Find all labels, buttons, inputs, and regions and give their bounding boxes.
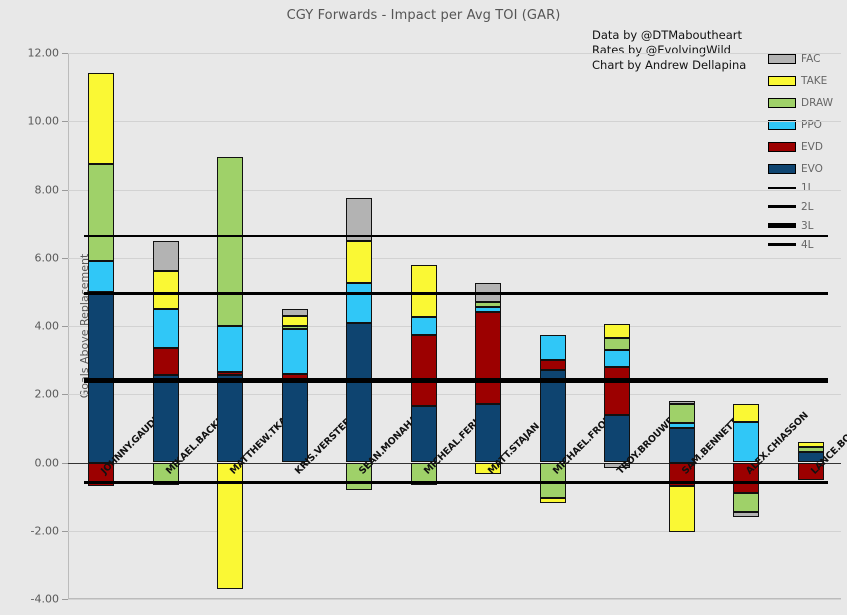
bar-segment-evo[interactable]	[346, 323, 372, 463]
gridline	[68, 326, 841, 327]
bar-segment-take[interactable]	[669, 486, 695, 532]
y-tick-label: 0.00	[35, 456, 60, 469]
bar-segment-evd[interactable]	[411, 335, 437, 407]
bar-segment-take[interactable]	[346, 241, 372, 284]
bar-segment-take[interactable]	[798, 442, 824, 447]
y-tick-label: 6.00	[35, 251, 60, 264]
bar-segment-draw[interactable]	[282, 326, 308, 329]
y-tick-mark	[62, 599, 68, 600]
bar-column[interactable]	[153, 53, 179, 599]
bar-segment-fac[interactable]	[669, 401, 695, 404]
page-title: CGY Forwards - Impact per Avg TOI (GAR)	[0, 8, 847, 23]
y-tick-mark	[62, 121, 68, 122]
plot-area: Goals Above Replacement -4.00-2.000.002.…	[68, 53, 841, 599]
bar-segment-ppo[interactable]	[411, 317, 437, 334]
bar-segment-draw[interactable]	[88, 164, 114, 261]
bar-segment-draw[interactable]	[217, 157, 243, 326]
gridline	[68, 258, 841, 259]
y-tick-mark	[62, 531, 68, 532]
bar-segment-ppo[interactable]	[604, 350, 630, 367]
bar-segment-fac[interactable]	[733, 512, 759, 517]
bar-segment-take[interactable]	[604, 324, 630, 338]
bar-segment-ppo[interactable]	[217, 326, 243, 372]
y-tick-label: 10.00	[28, 115, 60, 128]
bar-segment-fac[interactable]	[153, 241, 179, 272]
bar-segment-evd[interactable]	[604, 367, 630, 415]
bar-segment-evd[interactable]	[475, 312, 501, 404]
credit-line-data: Data by @DTMaboutheart	[592, 28, 746, 43]
bar-segment-evo[interactable]	[153, 375, 179, 462]
bar-segment-take[interactable]	[733, 404, 759, 421]
reference-line-3l	[84, 378, 828, 383]
gridline	[68, 190, 841, 191]
bar-segment-draw[interactable]	[733, 493, 759, 512]
bar-segment-evo[interactable]	[411, 406, 437, 462]
bar-column[interactable]	[733, 53, 759, 599]
bar-column[interactable]	[88, 53, 114, 599]
y-tick-label: 4.00	[35, 320, 60, 333]
bar-segment-take[interactable]	[88, 73, 114, 163]
bar-segment-ppo[interactable]	[88, 261, 114, 292]
bar-segment-evd[interactable]	[540, 360, 566, 370]
y-tick-mark	[62, 394, 68, 395]
bar-column[interactable]	[346, 53, 372, 599]
gridline	[68, 599, 841, 600]
bar-segment-evd[interactable]	[217, 372, 243, 375]
gridline	[68, 394, 841, 395]
bar-segment-draw[interactable]	[798, 447, 824, 452]
bar-segment-ppo[interactable]	[282, 329, 308, 373]
bar-segment-evo[interactable]	[604, 415, 630, 463]
y-tick-label: -4.00	[31, 593, 59, 606]
bar-segment-evo[interactable]	[217, 375, 243, 462]
y-tick-label: 8.00	[35, 183, 60, 196]
bar-column[interactable]	[798, 53, 824, 599]
gridline	[68, 531, 841, 532]
bar-segment-ppo[interactable]	[346, 283, 372, 322]
reference-line-4l	[84, 481, 828, 484]
chart-page: CGY Forwards - Impact per Avg TOI (GAR) …	[0, 0, 847, 615]
bar-segment-evd[interactable]	[153, 348, 179, 375]
bar-segment-evo[interactable]	[475, 404, 501, 462]
bar-segment-take[interactable]	[411, 265, 437, 318]
bar-column[interactable]	[475, 53, 501, 599]
bar-segment-draw[interactable]	[669, 404, 695, 423]
gridline	[68, 121, 841, 122]
y-tick-mark	[62, 258, 68, 259]
bar-segment-take[interactable]	[153, 271, 179, 309]
y-tick-mark	[62, 53, 68, 54]
bar-column[interactable]	[604, 53, 630, 599]
bar-segment-draw[interactable]	[604, 338, 630, 350]
bar-segment-ppo[interactable]	[475, 307, 501, 312]
bar-segment-fac[interactable]	[282, 309, 308, 316]
bar-segment-take[interactable]	[282, 316, 308, 326]
reference-line-1l	[84, 235, 828, 237]
y-tick-label: 12.00	[28, 47, 60, 60]
bar-segment-ppo[interactable]	[669, 423, 695, 428]
bar-column[interactable]	[282, 53, 308, 599]
y-tick-mark	[62, 190, 68, 191]
bar-segment-ppo[interactable]	[153, 309, 179, 348]
bar-segment-ppo[interactable]	[540, 335, 566, 361]
bar-segment-draw[interactable]	[475, 302, 501, 307]
y-tick-label: -2.00	[31, 524, 59, 537]
bar-column[interactable]	[669, 53, 695, 599]
bar-segment-evo[interactable]	[282, 379, 308, 463]
y-tick-label: 2.00	[35, 388, 60, 401]
reference-line-2l	[84, 292, 828, 295]
gridline	[68, 53, 841, 54]
bar-column[interactable]	[217, 53, 243, 599]
bar-segment-evo[interactable]	[540, 370, 566, 462]
y-tick-mark	[62, 326, 68, 327]
bar-column[interactable]	[411, 53, 437, 599]
bar-segment-take[interactable]	[540, 498, 566, 503]
bar-column[interactable]	[540, 53, 566, 599]
